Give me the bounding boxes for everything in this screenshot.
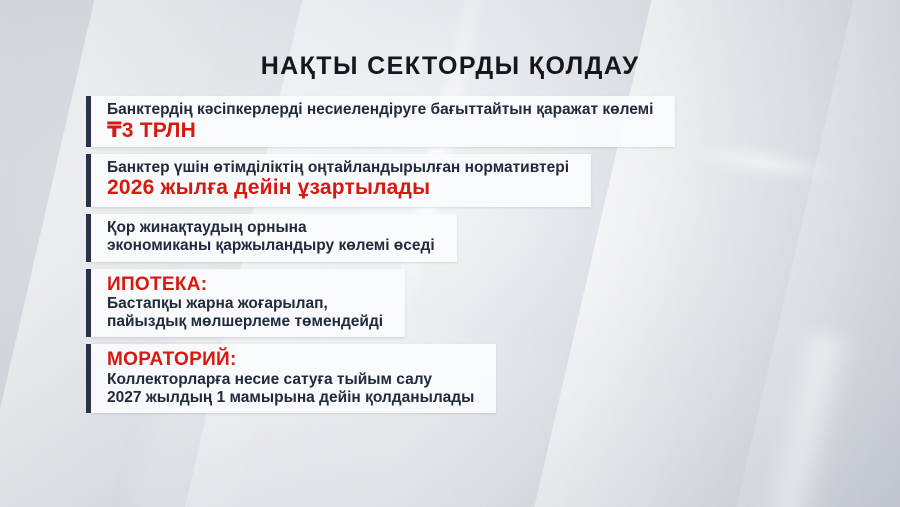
backdrop-glare-highlight — [689, 138, 841, 187]
item-line: Банктер үшін өтімділіктің оңтайландырылғ… — [107, 159, 569, 177]
item-panel: Банктердің кәсіпкерлерді несиелендіруге … — [91, 96, 675, 147]
statement-list: Банктердің кәсіпкерлерді несиелендіруге … — [86, 96, 675, 420]
list-item: Банктер үшін өтімділіктің оңтайландырылғ… — [86, 154, 675, 208]
item-panel: ИПОТЕКА: Бастапқы жарна жоғарылап, пайыз… — [91, 269, 405, 338]
item-heading: ИПОТЕКА: — [107, 274, 383, 296]
item-line: Банктердің кәсіпкерлерді несиелендіруге … — [107, 101, 653, 119]
list-item: МОРАТОРИЙ: Коллекторларға несие сатуға т… — [86, 344, 675, 413]
item-line: Бастапқы жарна жоғарылап, — [107, 295, 383, 313]
list-item: Қор жинақтаудың орнына экономиканы қаржы… — [86, 214, 675, 261]
item-line: Қор жинақтаудың орнына — [107, 219, 435, 237]
list-item: Банктердің кәсіпкерлерді несиелендіруге … — [86, 96, 675, 147]
item-highlight-line: ₸3 ТРЛН — [107, 119, 653, 143]
item-line: пайыздық мөлшерлеме төмендейді — [107, 313, 383, 331]
list-item: ИПОТЕКА: Бастапқы жарна жоғарылап, пайыз… — [86, 269, 675, 338]
item-line: Коллекторларға несие сатуға тыйым салу — [107, 371, 474, 389]
item-line: экономиканы қаржыландыру көлемі өседі — [107, 237, 435, 255]
broadcast-graphic-slide: НАҚТЫ СЕКТОРДЫ ҚОЛДАУ Банктердің кәсіпке… — [0, 0, 900, 507]
item-panel: Банктер үшін өтімділіктің оңтайландырылғ… — [91, 154, 591, 208]
item-highlight-line: 2026 жылға дейін ұзартылады — [107, 176, 569, 200]
item-panel: Қор жинақтаудың орнына экономиканы қаржы… — [91, 214, 457, 261]
item-line: 2027 жылдың 1 мамырына дейін қолданылады — [107, 389, 474, 407]
backdrop-glare-band — [724, 327, 857, 507]
item-panel: МОРАТОРИЙ: Коллекторларға несие сатуға т… — [91, 344, 496, 413]
page-title: НАҚТЫ СЕКТОРДЫ ҚОЛДАУ — [0, 52, 900, 81]
item-heading: МОРАТОРИЙ: — [107, 349, 474, 371]
